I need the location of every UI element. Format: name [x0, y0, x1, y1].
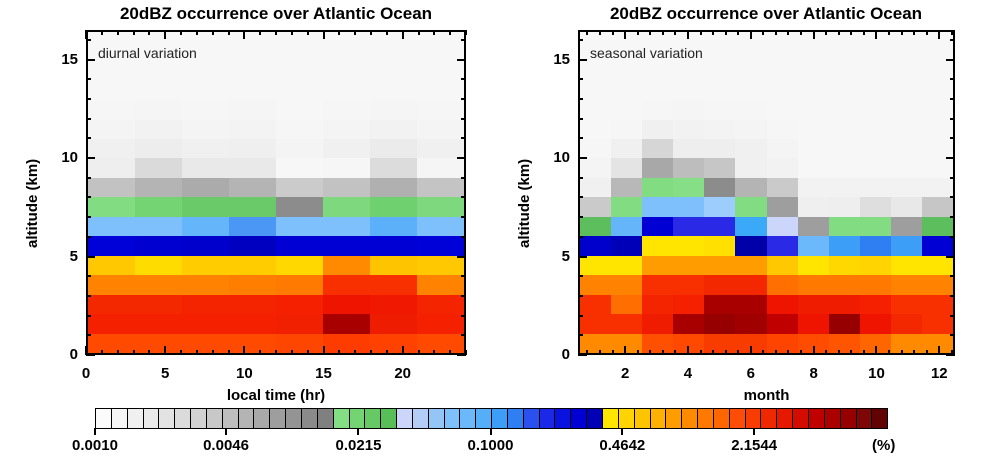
x-minor-tick-top — [838, 30, 840, 35]
heatmap-cell — [611, 61, 642, 80]
heatmap-cell — [611, 295, 642, 314]
heatmap-cell — [673, 158, 704, 177]
heatmap-cell — [323, 139, 370, 158]
y-major-tick — [86, 354, 95, 356]
heatmap-cell — [323, 256, 370, 275]
heatmap-cell — [135, 178, 182, 197]
y-minor-tick — [86, 98, 91, 100]
y-minor-tick-right — [461, 39, 466, 41]
heatmap-cell — [135, 100, 182, 119]
y-tick-label: 15 — [38, 51, 78, 68]
x-minor-tick — [418, 350, 420, 355]
heatmap-cell — [704, 81, 735, 100]
heatmap-cell — [891, 139, 922, 158]
heatmap-cell — [370, 158, 417, 177]
x-minor-tick-top — [913, 30, 915, 35]
heatmap-cell — [611, 275, 642, 294]
heatmap-cell — [135, 120, 182, 139]
heatmap-cell — [829, 139, 860, 158]
heatmap-cell — [88, 197, 135, 216]
y-minor-tick-right — [950, 315, 955, 317]
colorbar-segment — [761, 409, 777, 428]
x-major-tick — [813, 346, 815, 355]
heatmap-cell — [323, 197, 370, 216]
heatmap-cell — [323, 217, 370, 236]
x-minor-tick-top — [228, 30, 230, 35]
heatmap-cell — [798, 81, 829, 100]
y-major-tick-right — [946, 59, 955, 61]
y-minor-tick-right — [461, 216, 466, 218]
x-minor-tick-top — [951, 30, 953, 35]
colorbar-tick — [225, 428, 227, 435]
heatmap-cell — [860, 120, 891, 139]
heatmap-cell — [276, 81, 323, 100]
heatmap-cell — [891, 295, 922, 314]
heatmap-cell — [417, 100, 464, 119]
heatmap-cell — [829, 256, 860, 275]
colorbar-segment — [619, 409, 635, 428]
heatmap-cell — [891, 197, 922, 216]
heatmap-cell — [829, 314, 860, 333]
heatmap-cell — [735, 139, 766, 158]
heatmap-cell — [767, 61, 798, 80]
x-major-tick — [323, 346, 325, 355]
heatmap-cell — [182, 236, 229, 255]
x-minor-tick-top — [637, 30, 639, 35]
heatmap-cell — [922, 197, 953, 216]
heatmap-cell — [642, 236, 673, 255]
x-minor-tick — [700, 350, 702, 355]
heatmap-cell — [611, 139, 642, 158]
x-major-tick-top — [164, 30, 166, 39]
heatmap-cell — [860, 197, 891, 216]
colorbar-segment — [587, 409, 603, 428]
heatmap-cell — [829, 61, 860, 80]
colorbar-unit-label: (%) — [872, 437, 895, 454]
y-minor-tick-right — [461, 137, 466, 139]
heatmap-cell — [829, 217, 860, 236]
heatmap-cell — [704, 100, 735, 119]
x-tick-label: 10 — [214, 365, 274, 382]
heatmap-cell — [417, 334, 464, 353]
heatmap-cell — [417, 120, 464, 139]
heatmap-cell — [135, 334, 182, 353]
heatmap-cell — [642, 197, 673, 216]
x-minor-tick — [850, 350, 852, 355]
heatmap-cell — [370, 100, 417, 119]
heatmap-cell — [642, 178, 673, 197]
x-minor-tick-top — [465, 30, 467, 35]
heatmap-cell — [642, 334, 673, 353]
y-minor-tick-right — [461, 98, 466, 100]
y-minor-tick — [578, 334, 583, 336]
x-minor-tick — [259, 350, 261, 355]
heatmap-cell — [704, 275, 735, 294]
x-minor-tick — [787, 350, 789, 355]
figure-canvas: 20dBZ occurrence over Atlantic Ocean0510… — [0, 0, 983, 472]
heatmap-cell — [829, 197, 860, 216]
x-tick-label: 12 — [909, 365, 969, 382]
heatmap-cell — [735, 197, 766, 216]
heatmap-cell — [417, 217, 464, 236]
heatmap-cell — [642, 275, 673, 294]
heatmap-cell — [735, 81, 766, 100]
colorbar-tick-label: 0.1000 — [431, 437, 551, 454]
heatmap-cell — [276, 120, 323, 139]
colorbar-segment — [445, 409, 461, 428]
heatmap-cell — [135, 295, 182, 314]
heatmap-cell — [88, 158, 135, 177]
heatmap-cell — [704, 314, 735, 333]
colorbar-segment — [793, 409, 809, 428]
y-minor-tick — [578, 118, 583, 120]
heatmap-cell — [182, 100, 229, 119]
colorbar-segment — [730, 409, 746, 428]
x-minor-tick — [449, 350, 451, 355]
y-major-tick-right — [946, 256, 955, 258]
y-minor-tick — [86, 39, 91, 41]
heatmap-cell — [229, 158, 276, 177]
heatmap-cell — [229, 314, 276, 333]
heatmap-cell — [642, 314, 673, 333]
x-minor-tick-top — [117, 30, 119, 35]
heatmap-cell — [922, 100, 953, 119]
heatmap-cell — [88, 334, 135, 353]
heatmap-cell — [829, 120, 860, 139]
heatmap-cell — [829, 334, 860, 353]
heatmap-cell — [370, 139, 417, 158]
heatmap-cell — [323, 158, 370, 177]
x-minor-tick — [275, 350, 277, 355]
heatmap-cell — [229, 32, 276, 61]
heatmap-cell — [767, 295, 798, 314]
heatmap-cell — [891, 256, 922, 275]
heatmap-cell — [370, 334, 417, 353]
y-major-tick — [578, 157, 587, 159]
colorbar-segment — [381, 409, 397, 428]
heatmap-cell — [88, 314, 135, 333]
colorbar-segment — [128, 409, 144, 428]
x-minor-tick — [926, 350, 928, 355]
y-tick-label: 0 — [530, 346, 570, 363]
y-minor-tick-right — [950, 275, 955, 277]
heatmap-cell — [704, 197, 735, 216]
heatmap-cell — [704, 217, 735, 236]
heatmap-cell — [135, 158, 182, 177]
x-minor-tick — [101, 350, 103, 355]
x-minor-tick — [307, 350, 309, 355]
panel-title-diurnal: 20dBZ occurrence over Atlantic Ocean — [26, 4, 526, 24]
colorbar-tick — [621, 428, 623, 435]
heatmap-cell — [417, 314, 464, 333]
x-major-tick-top — [750, 30, 752, 39]
y-minor-tick — [578, 216, 583, 218]
y-minor-tick-right — [461, 295, 466, 297]
x-minor-tick — [888, 350, 890, 355]
colorbar-segment — [872, 409, 887, 428]
x-major-tick-top — [85, 30, 87, 39]
heatmap-cell — [323, 334, 370, 353]
heatmap-cell — [673, 275, 704, 294]
heatmap-cell — [798, 275, 829, 294]
x-minor-tick — [354, 350, 356, 355]
heatmap-cell — [642, 100, 673, 119]
x-minor-tick — [370, 350, 372, 355]
heatmap-cell — [704, 295, 735, 314]
x-minor-tick-top — [599, 30, 601, 35]
colorbar-segment — [96, 409, 112, 428]
y-minor-tick-right — [950, 98, 955, 100]
heatmap-cell — [735, 256, 766, 275]
y-minor-tick — [578, 177, 583, 179]
heatmap-cell — [642, 158, 673, 177]
heatmap-cell — [798, 236, 829, 255]
x-minor-tick — [212, 350, 214, 355]
heatmap-cell — [860, 81, 891, 100]
heatmap-cell — [276, 217, 323, 236]
y-minor-tick — [578, 137, 583, 139]
colorbar-segment — [159, 409, 175, 428]
heatmap-cell — [580, 158, 611, 177]
heatmap-cell — [860, 158, 891, 177]
y-major-tick-right — [457, 354, 466, 356]
heatmap-cell — [276, 334, 323, 353]
heatmap-cell — [182, 275, 229, 294]
heatmap-cell — [135, 81, 182, 100]
heatmap-cell — [370, 120, 417, 139]
x-minor-tick-top — [762, 30, 764, 35]
panel-annotation-seasonal: seasonal variation — [590, 45, 703, 61]
y-minor-tick — [86, 137, 91, 139]
heatmap-cell — [704, 61, 735, 80]
heatmap-cell — [798, 197, 829, 216]
x-minor-tick-top — [649, 30, 651, 35]
x-minor-tick-top — [259, 30, 261, 35]
x-minor-tick-top — [674, 30, 676, 35]
colorbar-segment — [540, 409, 556, 428]
heatmap-cell — [798, 100, 829, 119]
heatmap-cell — [891, 236, 922, 255]
heatmap-cell — [767, 256, 798, 275]
y-minor-tick — [578, 236, 583, 238]
x-axis-title-seasonal: month — [647, 387, 887, 404]
colorbar-segment — [777, 409, 793, 428]
heatmap-cell — [323, 275, 370, 294]
colorbar-segment — [555, 409, 571, 428]
x-minor-tick — [637, 350, 639, 355]
y-minor-tick-right — [461, 275, 466, 277]
heatmap-cell — [417, 295, 464, 314]
heatmap-cell — [891, 217, 922, 236]
y-tick-label: 0 — [38, 346, 78, 363]
y-minor-tick — [86, 216, 91, 218]
heatmap-cell — [611, 197, 642, 216]
colorbar-segment — [603, 409, 619, 428]
y-tick-label: 15 — [530, 51, 570, 68]
heatmap-cell — [860, 314, 891, 333]
heatmap-cell — [182, 158, 229, 177]
y-tick-label: 10 — [530, 149, 570, 166]
x-major-tick-top — [813, 30, 815, 39]
y-major-tick-right — [457, 256, 466, 258]
colorbar-tick-label: 0.0046 — [166, 437, 286, 454]
heatmap-cell — [323, 32, 370, 61]
heatmap-cell — [323, 120, 370, 139]
heatmap-cell — [891, 61, 922, 80]
y-minor-tick-right — [950, 118, 955, 120]
heatmap-cell — [135, 61, 182, 80]
y-minor-tick — [578, 196, 583, 198]
heatmap-cell — [323, 178, 370, 197]
heatmap-cell — [611, 120, 642, 139]
heatmap-cell — [323, 295, 370, 314]
heatmap-cell — [417, 236, 464, 255]
y-minor-tick — [86, 196, 91, 198]
colorbar-segment — [397, 409, 413, 428]
x-major-tick-top — [402, 30, 404, 39]
heatmap-cell — [276, 178, 323, 197]
y-minor-tick — [86, 236, 91, 238]
heatmap-cell — [922, 217, 953, 236]
heatmap-cell — [704, 334, 735, 353]
heatmap-cell — [891, 120, 922, 139]
heatmap-grid-diurnal — [88, 32, 464, 353]
colorbar-segment — [698, 409, 714, 428]
y-minor-tick — [86, 275, 91, 277]
heatmap-cell — [88, 275, 135, 294]
x-major-tick — [243, 346, 245, 355]
y-minor-tick — [578, 39, 583, 41]
x-minor-tick-top — [787, 30, 789, 35]
x-minor-tick-top — [418, 30, 420, 35]
panel-annotation-diurnal: diurnal variation — [98, 45, 197, 61]
heatmap-cell — [767, 217, 798, 236]
heatmap-cell — [88, 295, 135, 314]
x-minor-tick-top — [386, 30, 388, 35]
heatmap-cell — [767, 81, 798, 100]
colorbar-segment — [286, 409, 302, 428]
heatmap-cell — [767, 139, 798, 158]
heatmap-cell — [182, 256, 229, 275]
heatmap-cell — [798, 120, 829, 139]
colorbar-tick-label: 0.4642 — [562, 437, 682, 454]
x-major-tick-top — [938, 30, 940, 39]
heatmap-cell — [642, 256, 673, 275]
heatmap-cell — [673, 256, 704, 275]
heatmap-cell — [673, 120, 704, 139]
y-axis-title-seasonal: altitude (km) — [516, 158, 533, 247]
y-major-tick — [86, 256, 95, 258]
x-minor-tick — [180, 350, 182, 355]
colorbar-segment — [492, 409, 508, 428]
heatmap-cell — [88, 236, 135, 255]
heatmap-cell — [370, 275, 417, 294]
x-minor-tick-top — [586, 30, 588, 35]
x-minor-tick — [649, 350, 651, 355]
heatmap-cell — [182, 197, 229, 216]
colorbar-segment — [825, 409, 841, 428]
y-major-tick-right — [457, 59, 466, 61]
heatmap-cell — [229, 217, 276, 236]
x-minor-tick-top — [662, 30, 664, 35]
y-tick-label: 5 — [530, 248, 570, 265]
heatmap-cell — [860, 178, 891, 197]
heatmap-cell — [673, 295, 704, 314]
heatmap-cell — [767, 236, 798, 255]
y-minor-tick — [86, 118, 91, 120]
heatmap-cell — [182, 61, 229, 80]
x-minor-tick-top — [180, 30, 182, 35]
y-minor-tick — [86, 177, 91, 179]
heatmap-cell — [611, 178, 642, 197]
heatmap-cell — [417, 178, 464, 197]
y-minor-tick — [86, 78, 91, 80]
heatmap-cell — [922, 81, 953, 100]
heatmap-cell — [135, 217, 182, 236]
heatmap-cell — [370, 178, 417, 197]
x-minor-tick-top — [700, 30, 702, 35]
heatmap-cell — [767, 178, 798, 197]
y-tick-label: 10 — [38, 149, 78, 166]
colorbar-tick — [94, 428, 96, 435]
heatmap-cell — [323, 81, 370, 100]
heatmap-cell — [88, 217, 135, 236]
colorbar-segment — [144, 409, 160, 428]
heatmap-cell — [860, 100, 891, 119]
x-minor-tick — [825, 350, 827, 355]
heatmap-cell — [229, 178, 276, 197]
x-minor-tick — [662, 350, 664, 355]
y-minor-tick — [86, 295, 91, 297]
x-major-tick-top — [624, 30, 626, 39]
colorbar-segment — [809, 409, 825, 428]
heatmap-cell — [276, 275, 323, 294]
y-major-tick-right — [946, 157, 955, 159]
heatmap-cell — [735, 314, 766, 333]
x-axis-title-diurnal: local time (hr) — [156, 387, 396, 404]
x-minor-tick — [117, 350, 119, 355]
heatmap-cell — [891, 275, 922, 294]
heatmap-cell — [580, 178, 611, 197]
x-minor-tick-top — [212, 30, 214, 35]
heatmap-cell — [611, 100, 642, 119]
heatmap-cell — [229, 61, 276, 80]
heatmap-cell — [229, 100, 276, 119]
y-minor-tick — [578, 98, 583, 100]
heatmap-cell — [767, 334, 798, 353]
heatmap-cell — [798, 178, 829, 197]
colorbar-segment — [666, 409, 682, 428]
heatmap-cell — [276, 100, 323, 119]
colorbar-tick-label: 2.1544 — [694, 437, 814, 454]
heatmap-cell — [229, 295, 276, 314]
heatmap-cell — [735, 295, 766, 314]
y-minor-tick-right — [950, 196, 955, 198]
x-minor-tick — [762, 350, 764, 355]
heatmap-cell — [182, 178, 229, 197]
y-minor-tick — [86, 315, 91, 317]
colorbar-segment — [460, 409, 476, 428]
y-minor-tick-right — [461, 118, 466, 120]
heatmap-cell — [735, 100, 766, 119]
heatmap-cell — [135, 275, 182, 294]
x-major-tick — [402, 346, 404, 355]
heatmap-cell — [276, 256, 323, 275]
heatmap-cell — [704, 158, 735, 177]
x-minor-tick-top — [888, 30, 890, 35]
heatmap-cell — [767, 314, 798, 333]
heatmap-cell — [88, 120, 135, 139]
